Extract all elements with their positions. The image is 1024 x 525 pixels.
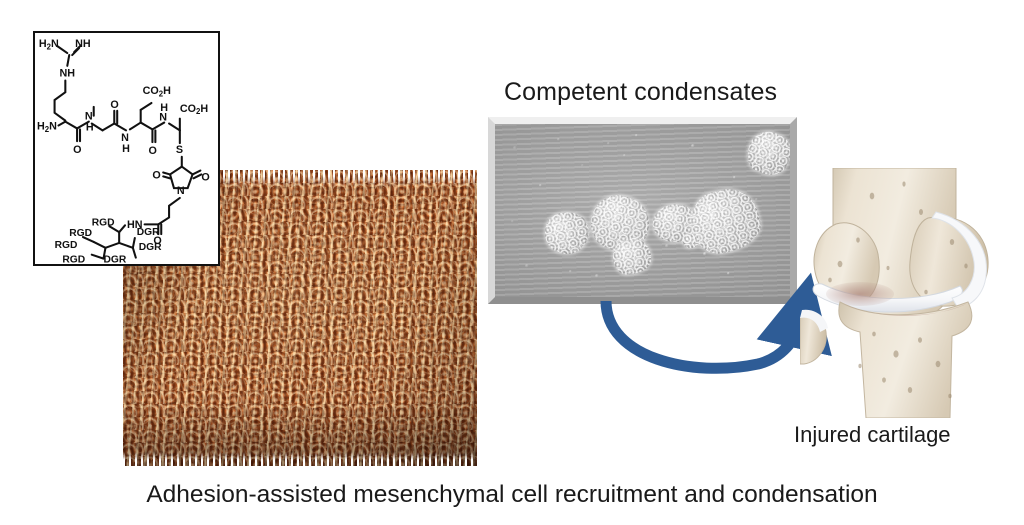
debris-speck	[525, 264, 529, 268]
competent-condensates-label: Competent condensates	[504, 78, 777, 107]
debris-speck	[539, 184, 542, 187]
atom-co2h-terminal: CO2H	[180, 103, 208, 116]
atom-o-succinimide-right: O	[201, 171, 209, 183]
debris-speck	[551, 248, 554, 251]
debris-speck	[513, 146, 517, 150]
debris-speck	[755, 198, 758, 201]
debris-speck	[581, 164, 584, 167]
debris-speck	[635, 134, 638, 137]
atom-co2h-asp: CO2H	[143, 85, 171, 98]
afm-bottom-ragged-edge	[123, 452, 477, 466]
knee-joint-illustration	[800, 168, 1024, 418]
condensate-texture	[683, 234, 699, 248]
atom-h-asp: H	[122, 143, 130, 155]
atom-o-succinimide-left: O	[152, 169, 160, 181]
atom-o-carbonyl-3: O	[149, 145, 157, 157]
chemical-structure-inset: H2N NH NH H2N O N H O	[33, 31, 220, 266]
branch-label-dgr-1: DGR	[137, 227, 160, 238]
condensates-micrograph	[488, 117, 797, 304]
injured-cartilage-label: Injured cartilage	[794, 422, 951, 448]
atom-s-thioether: S	[176, 144, 183, 156]
graphical-abstract: H2N NH NH H2N O N H O	[0, 0, 1024, 525]
tibia	[839, 302, 972, 418]
debris-speck	[569, 270, 572, 273]
injury-zone	[826, 282, 894, 306]
debris-speck	[623, 154, 626, 157]
atom-h2n-alpha: H2N	[37, 120, 57, 133]
debris-speck	[665, 244, 669, 248]
debris-speck	[557, 138, 560, 141]
branch-label-rgd-2: RGD	[69, 228, 92, 239]
atom-nh-guanidine: NH	[59, 68, 75, 80]
debris-speck	[727, 272, 730, 275]
atom-o-carbonyl-2: O	[110, 99, 118, 111]
branch-label-rgd-4: RGD	[62, 255, 85, 264]
debris-speck	[645, 264, 648, 267]
branch-label-dgr-3: DGR	[104, 255, 127, 264]
atom-h-cys: H	[160, 102, 168, 114]
arrow-path	[606, 301, 800, 368]
debris-speck	[595, 274, 599, 278]
figure-caption: Adhesion-assisted mesenchymal cell recru…	[0, 481, 1024, 509]
branch-label-dgr-2: DGR	[139, 242, 162, 253]
debris-speck	[691, 144, 695, 148]
debris-speck	[747, 234, 750, 237]
debris-speck	[703, 252, 707, 256]
cell-condensate	[683, 234, 699, 248]
debris-speck	[711, 220, 714, 223]
debris-speck	[511, 220, 514, 223]
debris-speck	[733, 176, 736, 179]
branch-label-rgd-3: RGD	[55, 240, 78, 251]
atom-o-carbonyl-1: O	[73, 144, 81, 156]
atom-n-succinimide: N	[177, 185, 185, 197]
debris-speck	[607, 142, 610, 145]
atom-h2n-guanidine: H2N	[39, 38, 59, 51]
branch-label-rgd-1: RGD	[92, 217, 115, 228]
